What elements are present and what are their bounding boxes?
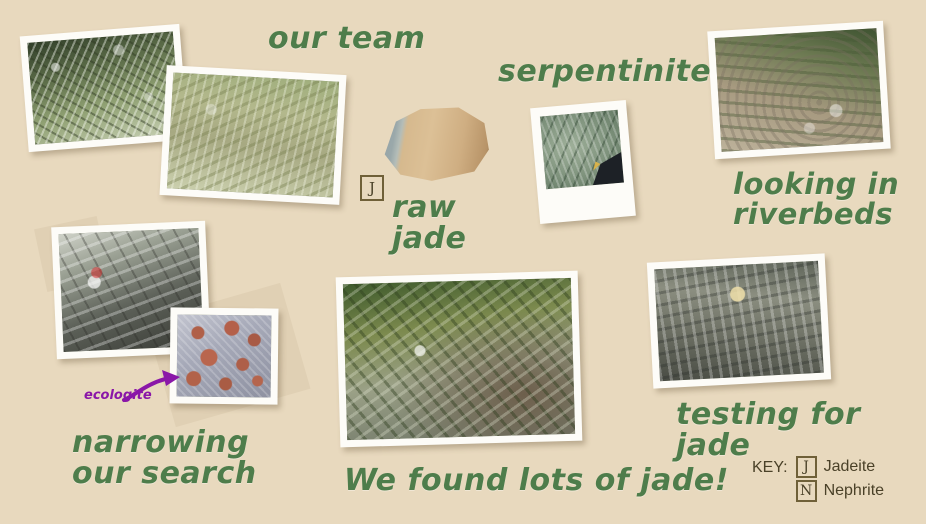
photo-team-hikers-image: [27, 31, 181, 144]
caption-serpentinite: serpentinite: [498, 57, 711, 88]
caption-testing-for-jade: testing for jade: [676, 400, 926, 461]
photo-collage-page: our team J raw jade serpentinite looking…: [0, 0, 926, 524]
rock-hammer-pointer-icon: [540, 110, 624, 190]
raw-jade-specimen-image: [378, 106, 490, 184]
caption-we-found-lots-of-jade: We found lots of jade!: [344, 466, 729, 497]
photo-testing-jade-image: [654, 261, 824, 381]
legend-key-rows: J Jadeite N Nephrite: [796, 455, 884, 503]
legend-label-jadeite: Jadeite: [824, 459, 876, 475]
photo-riverbed-search[interactable]: [707, 21, 890, 160]
photo-eclogite-image: [177, 315, 272, 398]
mineral-tag-jadeite-symbol: J: [796, 456, 817, 478]
mineral-tag-nephrite-symbol: N: [796, 480, 817, 502]
photo-testing-jade[interactable]: [647, 253, 831, 388]
caption-raw-jade: raw jade: [392, 193, 466, 254]
caption-our-team: our team: [268, 24, 425, 55]
legend-label-nephrite: Nephrite: [824, 483, 884, 499]
ecologite-label: ecologite: [84, 388, 152, 403]
photo-jade-outcrop-image: [343, 278, 575, 440]
photo-riverbed-image: [715, 28, 884, 152]
photo-serpentinite-slab[interactable]: [530, 100, 636, 224]
photo-jade-outcrop[interactable]: [336, 271, 583, 448]
legend-key-label: KEY:: [752, 455, 788, 477]
photo-team-mule-image: [167, 72, 339, 197]
legend-row-nephrite: N Nephrite: [796, 479, 884, 503]
caption-narrowing-our-search: narrowing our search: [72, 428, 257, 489]
mineral-tag-jadeite: J: [360, 175, 384, 201]
photo-team-mule[interactable]: [160, 65, 347, 205]
photo-serpentinite-image: [540, 110, 624, 190]
caption-looking-in-riverbeds: looking in riverbeds: [733, 170, 899, 229]
legend-key: KEY: J Jadeite N Nephrite: [752, 455, 884, 503]
legend-row-jadeite: J Jadeite: [796, 455, 884, 479]
